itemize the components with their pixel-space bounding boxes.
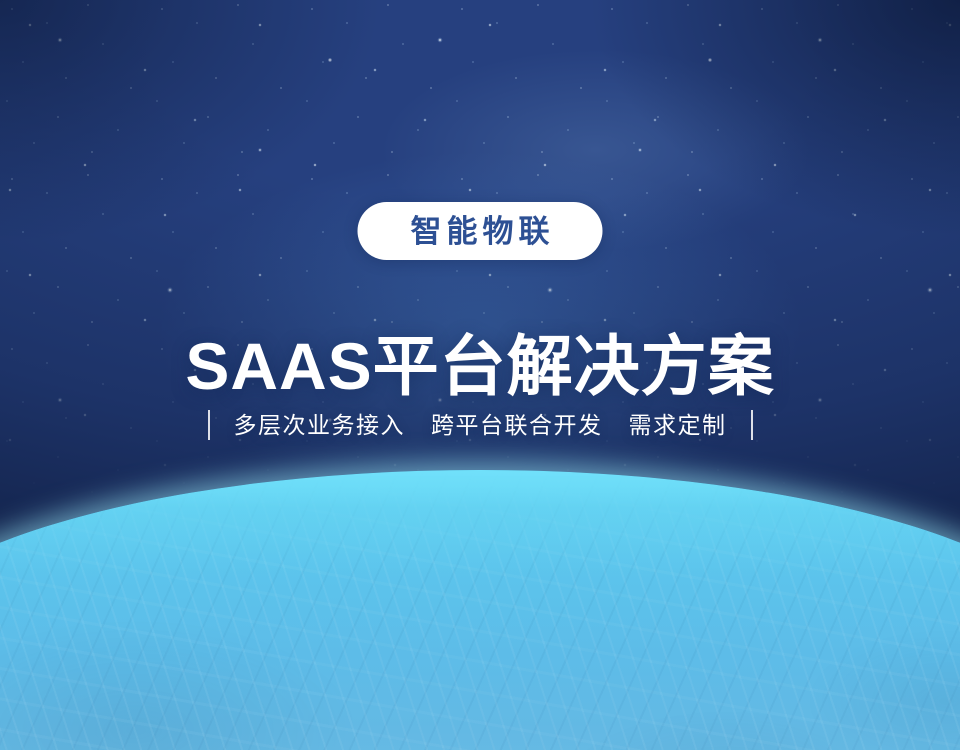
feature-list: 多层次业务接入 跨平台联合开发 需求定制 — [0, 410, 960, 440]
feature-item-2: 跨平台联合开发 — [429, 414, 605, 437]
banner-content: 智能物联 SAAS平台解决方案 多层次业务接入 跨平台联合开发 需求定制 — [0, 0, 960, 750]
divider-left — [208, 410, 210, 440]
hero-banner: 智能物联 SAAS平台解决方案 多层次业务接入 跨平台联合开发 需求定制 — [0, 0, 960, 750]
feature-item-3: 需求定制 — [627, 414, 729, 437]
feature-item-1: 多层次业务接入 — [232, 414, 408, 437]
category-badge-label: 智能物联 — [406, 216, 555, 247]
divider-right — [751, 410, 753, 440]
category-badge: 智能物联 — [358, 202, 603, 260]
page-title: SAAS平台解决方案 — [0, 331, 960, 402]
